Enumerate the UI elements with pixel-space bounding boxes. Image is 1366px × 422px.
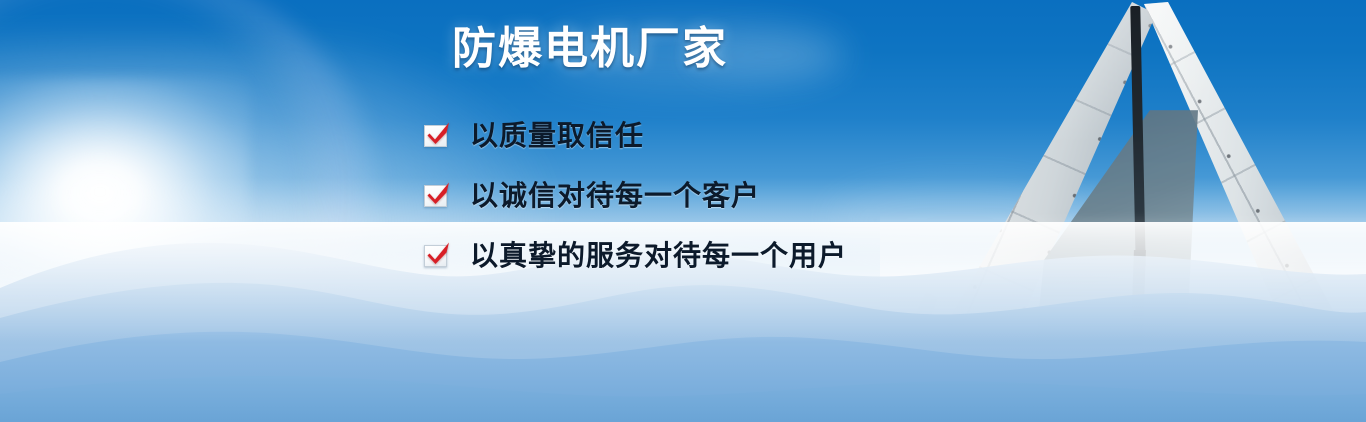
red-check-icon bbox=[424, 242, 450, 266]
list-item: 以质量取信任 bbox=[424, 104, 847, 164]
banner-content: 防爆电机厂家 以质量取信任 以诚信对待每一个客户 bbox=[0, 0, 1366, 422]
list-item: 以真挚的服务对待每一个用户 bbox=[424, 224, 847, 284]
list-item: 以诚信对待每一个客户 bbox=[424, 164, 847, 224]
check-glyph bbox=[425, 120, 452, 147]
check-glyph bbox=[425, 240, 452, 267]
red-check-icon bbox=[424, 122, 450, 146]
list-item-label: 以诚信对待每一个客户 bbox=[470, 174, 760, 214]
promo-banner: 防爆电机厂家 以质量取信任 以诚信对待每一个客户 bbox=[0, 0, 1366, 422]
page-title: 防爆电机厂家 bbox=[452, 26, 728, 72]
red-check-icon bbox=[424, 182, 450, 206]
list-item-label: 以真挚的服务对待每一个用户 bbox=[470, 234, 847, 274]
check-glyph bbox=[425, 180, 452, 207]
list-item-label: 以质量取信任 bbox=[470, 114, 644, 154]
selling-points-list: 以质量取信任 以诚信对待每一个客户 以真挚的服务对待 bbox=[424, 104, 847, 284]
